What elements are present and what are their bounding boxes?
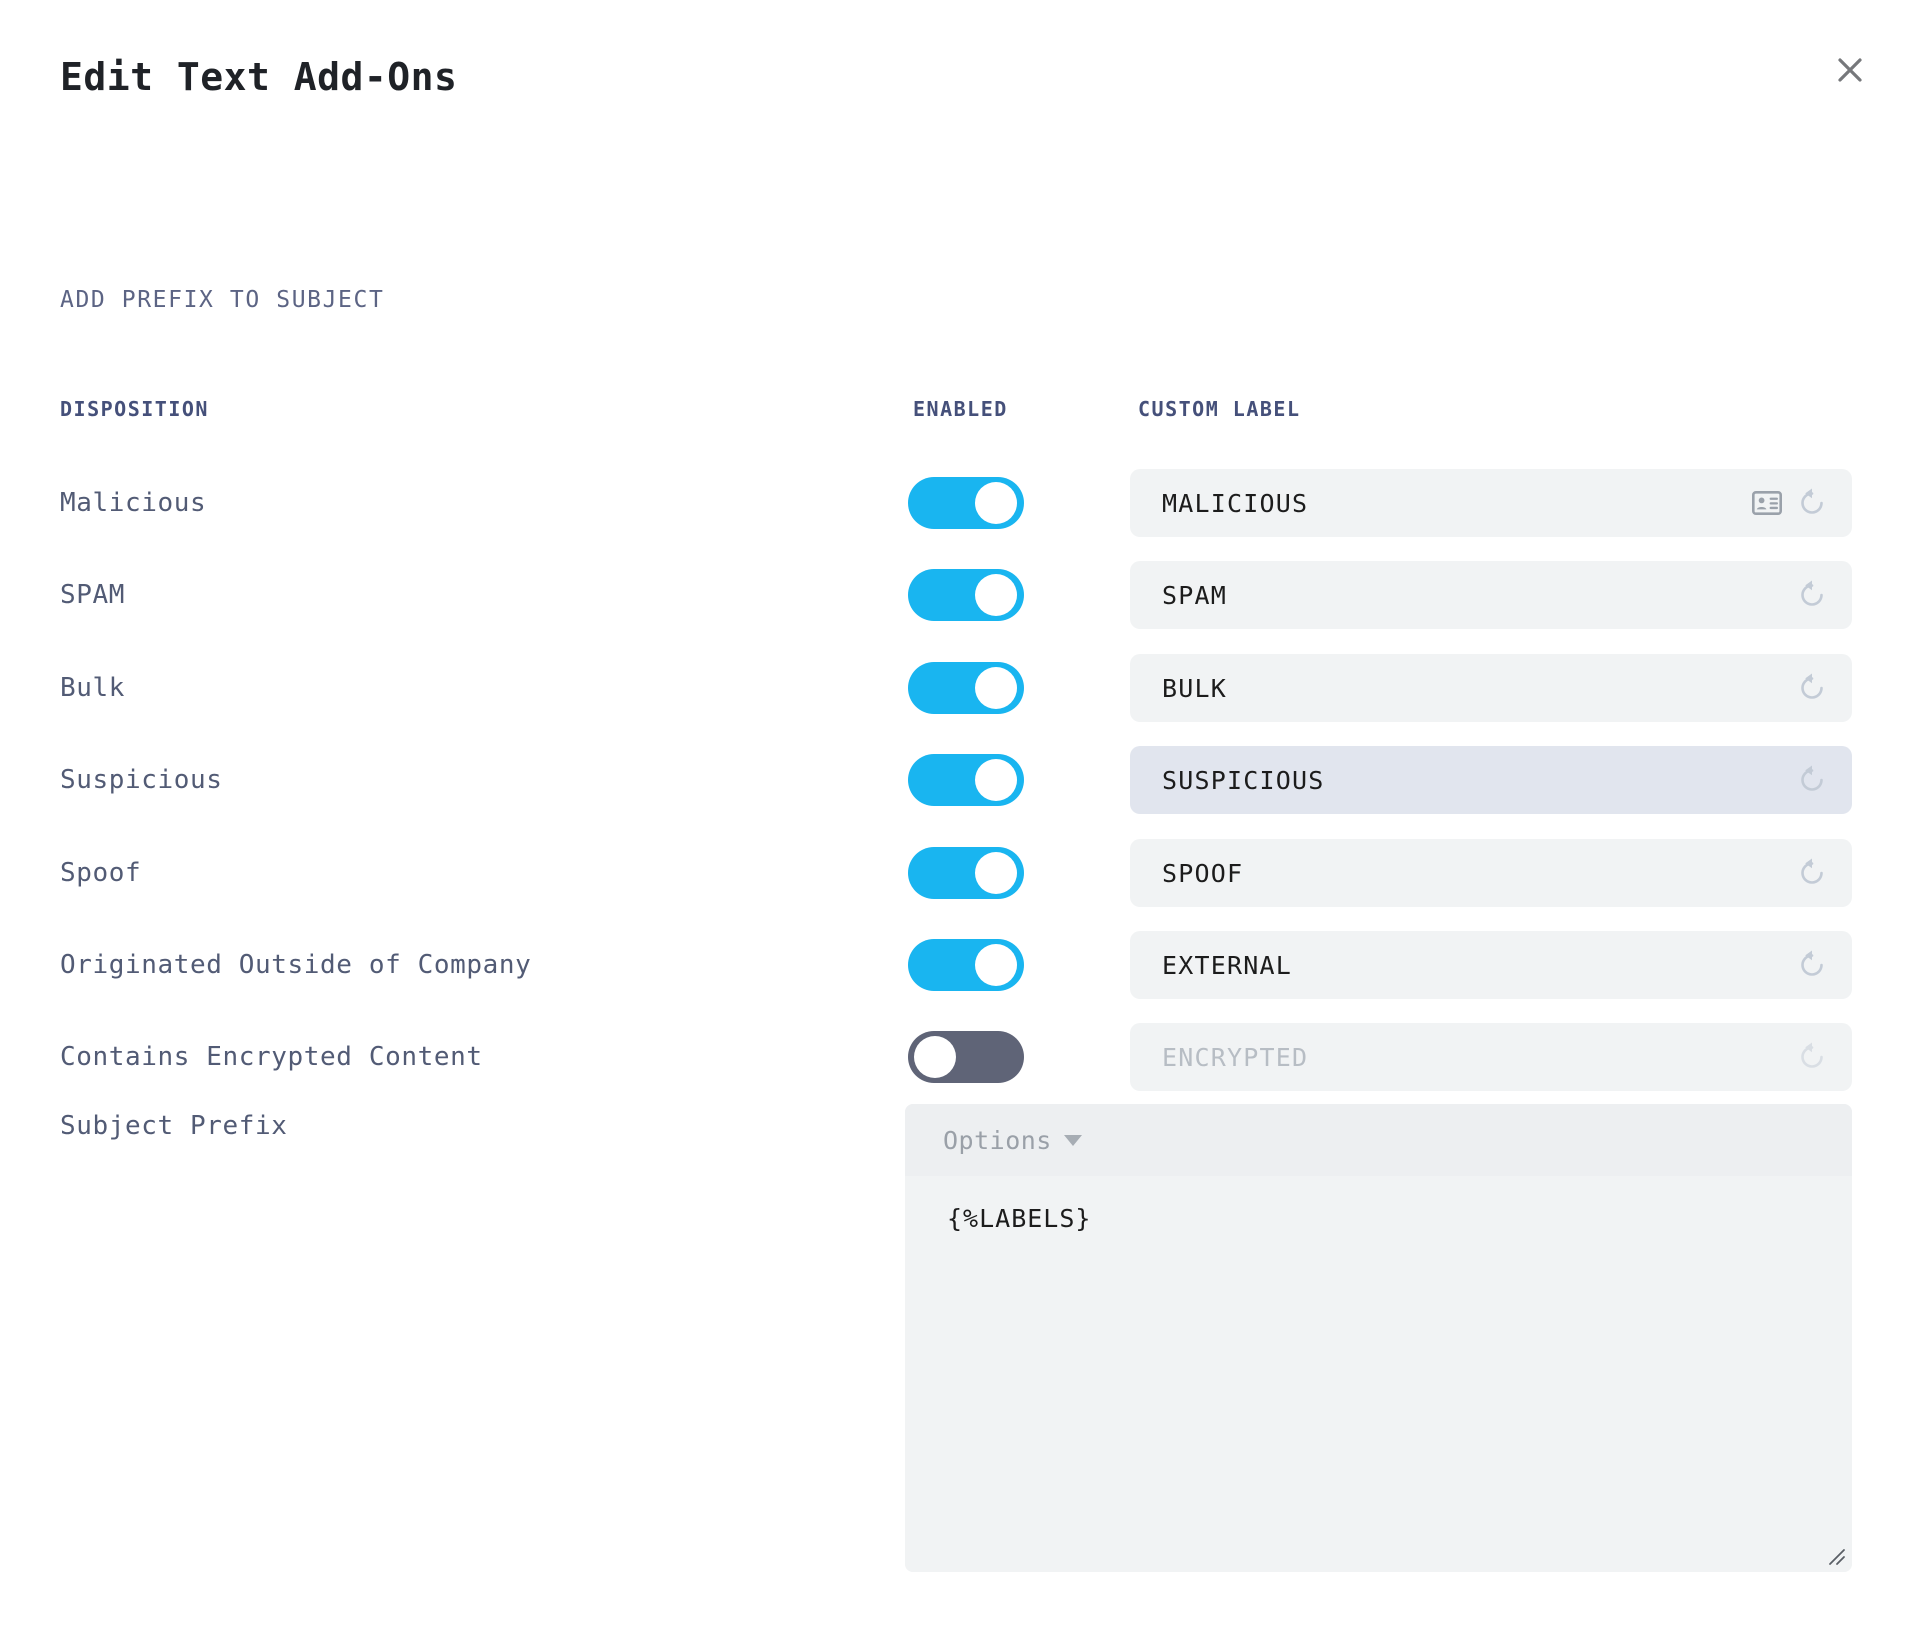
toggle-knob [975,852,1017,894]
reset-icon[interactable] [1794,485,1830,521]
close-icon[interactable] [1828,48,1872,92]
section-title: ADD PREFIX TO SUBJECT [60,287,384,313]
table-row: BulkBULK [0,653,1908,723]
table-row: Originated Outside of CompanyEXTERNAL [0,930,1908,1000]
custom-label-value: EXTERNAL [1162,951,1292,980]
reset-icon[interactable] [1794,855,1830,891]
reset-icon[interactable] [1794,947,1830,983]
dialog-title: Edit Text Add-Ons [60,55,457,99]
subject-prefix-value: {%LABELS} [947,1204,1091,1233]
custom-label-input[interactable]: SPAM [1130,561,1852,629]
custom-label-input[interactable]: SPOOF [1130,839,1852,907]
options-dropdown-button[interactable]: Options [943,1126,1082,1155]
custom-label-value: SPOOF [1162,859,1243,888]
custom-label-value: ENCRYPTED [1162,1043,1308,1072]
reset-icon [1794,1039,1830,1075]
custom-label-value: SUSPICIOUS [1162,766,1325,795]
enabled-toggle[interactable] [908,847,1024,899]
enabled-toggle[interactable] [908,569,1024,621]
toggle-knob [975,759,1017,801]
table-row: SPAMSPAM [0,560,1908,630]
subject-prefix-editor: Options {%LABELS} [905,1104,1852,1572]
disposition-label: Spoof [60,858,141,888]
resize-handle-icon[interactable] [1824,1544,1846,1566]
options-dropdown-label: Options [943,1126,1052,1155]
reset-icon[interactable] [1794,762,1830,798]
disposition-label: Originated Outside of Company [60,950,531,980]
chevron-down-icon [1064,1135,1082,1146]
reset-icon[interactable] [1794,670,1830,706]
custom-label-value: BULK [1162,674,1227,703]
contact-card-icon[interactable] [1752,491,1782,515]
custom-label-value: SPAM [1162,581,1227,610]
edit-text-addons-dialog: Edit Text Add-Ons ADD PREFIX TO SUBJECT … [0,0,1908,1650]
enabled-toggle[interactable] [908,1031,1024,1083]
toggle-knob [975,667,1017,709]
table-row: MaliciousMALICIOUS [0,468,1908,538]
field-icon-group [1794,1039,1830,1075]
table-row: SuspiciousSUSPICIOUS [0,745,1908,815]
subject-prefix-textarea[interactable]: {%LABELS} [905,1176,1852,1572]
disposition-label: Malicious [60,488,206,518]
subject-prefix-label: Subject Prefix [60,1111,288,1141]
custom-label-input[interactable]: EXTERNAL [1130,931,1852,999]
disposition-label: Bulk [60,673,125,703]
enabled-toggle[interactable] [908,754,1024,806]
custom-label-input: ENCRYPTED [1130,1023,1852,1091]
dialog-header: Edit Text Add-Ons [0,0,1908,140]
column-header-enabled: ENABLED [913,397,1008,421]
toggle-knob [975,944,1017,986]
disposition-label: Contains Encrypted Content [60,1042,483,1072]
custom-label-input[interactable]: SUSPICIOUS [1130,746,1852,814]
reset-icon[interactable] [1794,577,1830,613]
table-row: SpoofSPOOF [0,838,1908,908]
custom-label-value: MALICIOUS [1162,489,1308,518]
table-row: Contains Encrypted ContentENCRYPTED [0,1022,1908,1092]
toggle-knob [914,1036,956,1078]
field-icon-group [1794,947,1830,983]
field-icon-group [1794,762,1830,798]
column-header-disposition: DISPOSITION [60,397,209,421]
field-icon-group [1794,855,1830,891]
custom-label-input[interactable]: MALICIOUS [1130,469,1852,537]
field-icon-group [1794,670,1830,706]
column-header-custom-label: CUSTOM LABEL [1138,397,1301,421]
disposition-label: SPAM [60,580,125,610]
toggle-knob [975,574,1017,616]
enabled-toggle[interactable] [908,477,1024,529]
toggle-knob [975,482,1017,524]
custom-label-input[interactable]: BULK [1130,654,1852,722]
disposition-label: Suspicious [60,765,223,795]
field-icon-group [1752,485,1830,521]
enabled-toggle[interactable] [908,662,1024,714]
field-icon-group [1794,577,1830,613]
prefix-toolbar: Options [905,1104,1852,1177]
enabled-toggle[interactable] [908,939,1024,991]
